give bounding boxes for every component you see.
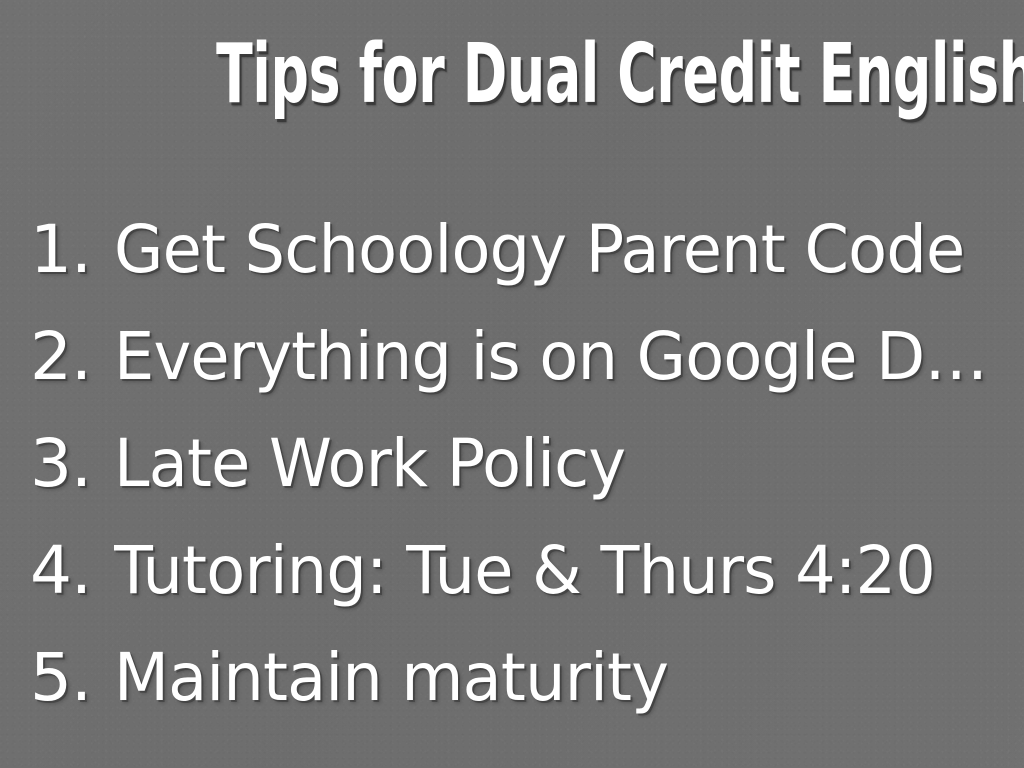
slide-title-container: Tips for Dual Credit English <box>0 34 1024 116</box>
presentation-slide: Tips for Dual Credit English 1. Get Scho… <box>0 0 1024 768</box>
list-item-label: Tutoring: Tue & Thurs 4:20 <box>114 517 935 624</box>
list-item-label: Maintain maturity <box>114 624 668 731</box>
list-item-label: Late Work Policy <box>114 410 625 517</box>
list-item-number: 3. <box>30 410 114 517</box>
page-title: Tips for Dual Credit English <box>216 34 1024 116</box>
list-item-number: 4. <box>30 517 114 624</box>
list-item: 2. Everything is on Google D… <box>30 303 1024 410</box>
list-item-number: 5. <box>30 624 114 731</box>
list-item: 3. Late Work Policy <box>30 410 1024 517</box>
list-item: 5. Maintain maturity <box>30 624 1024 731</box>
list-item: 1. Get Schoology Parent Code <box>30 196 1024 303</box>
list-item-label: Get Schoology Parent Code <box>114 196 964 303</box>
list-item-number: 2. <box>30 303 114 410</box>
list-item-label: Everything is on Google D… <box>114 303 987 410</box>
tips-list: 1. Get Schoology Parent Code 2. Everythi… <box>30 196 1024 731</box>
list-item-number: 1. <box>30 196 114 303</box>
list-item: 4. Tutoring: Tue & Thurs 4:20 <box>30 517 1024 624</box>
